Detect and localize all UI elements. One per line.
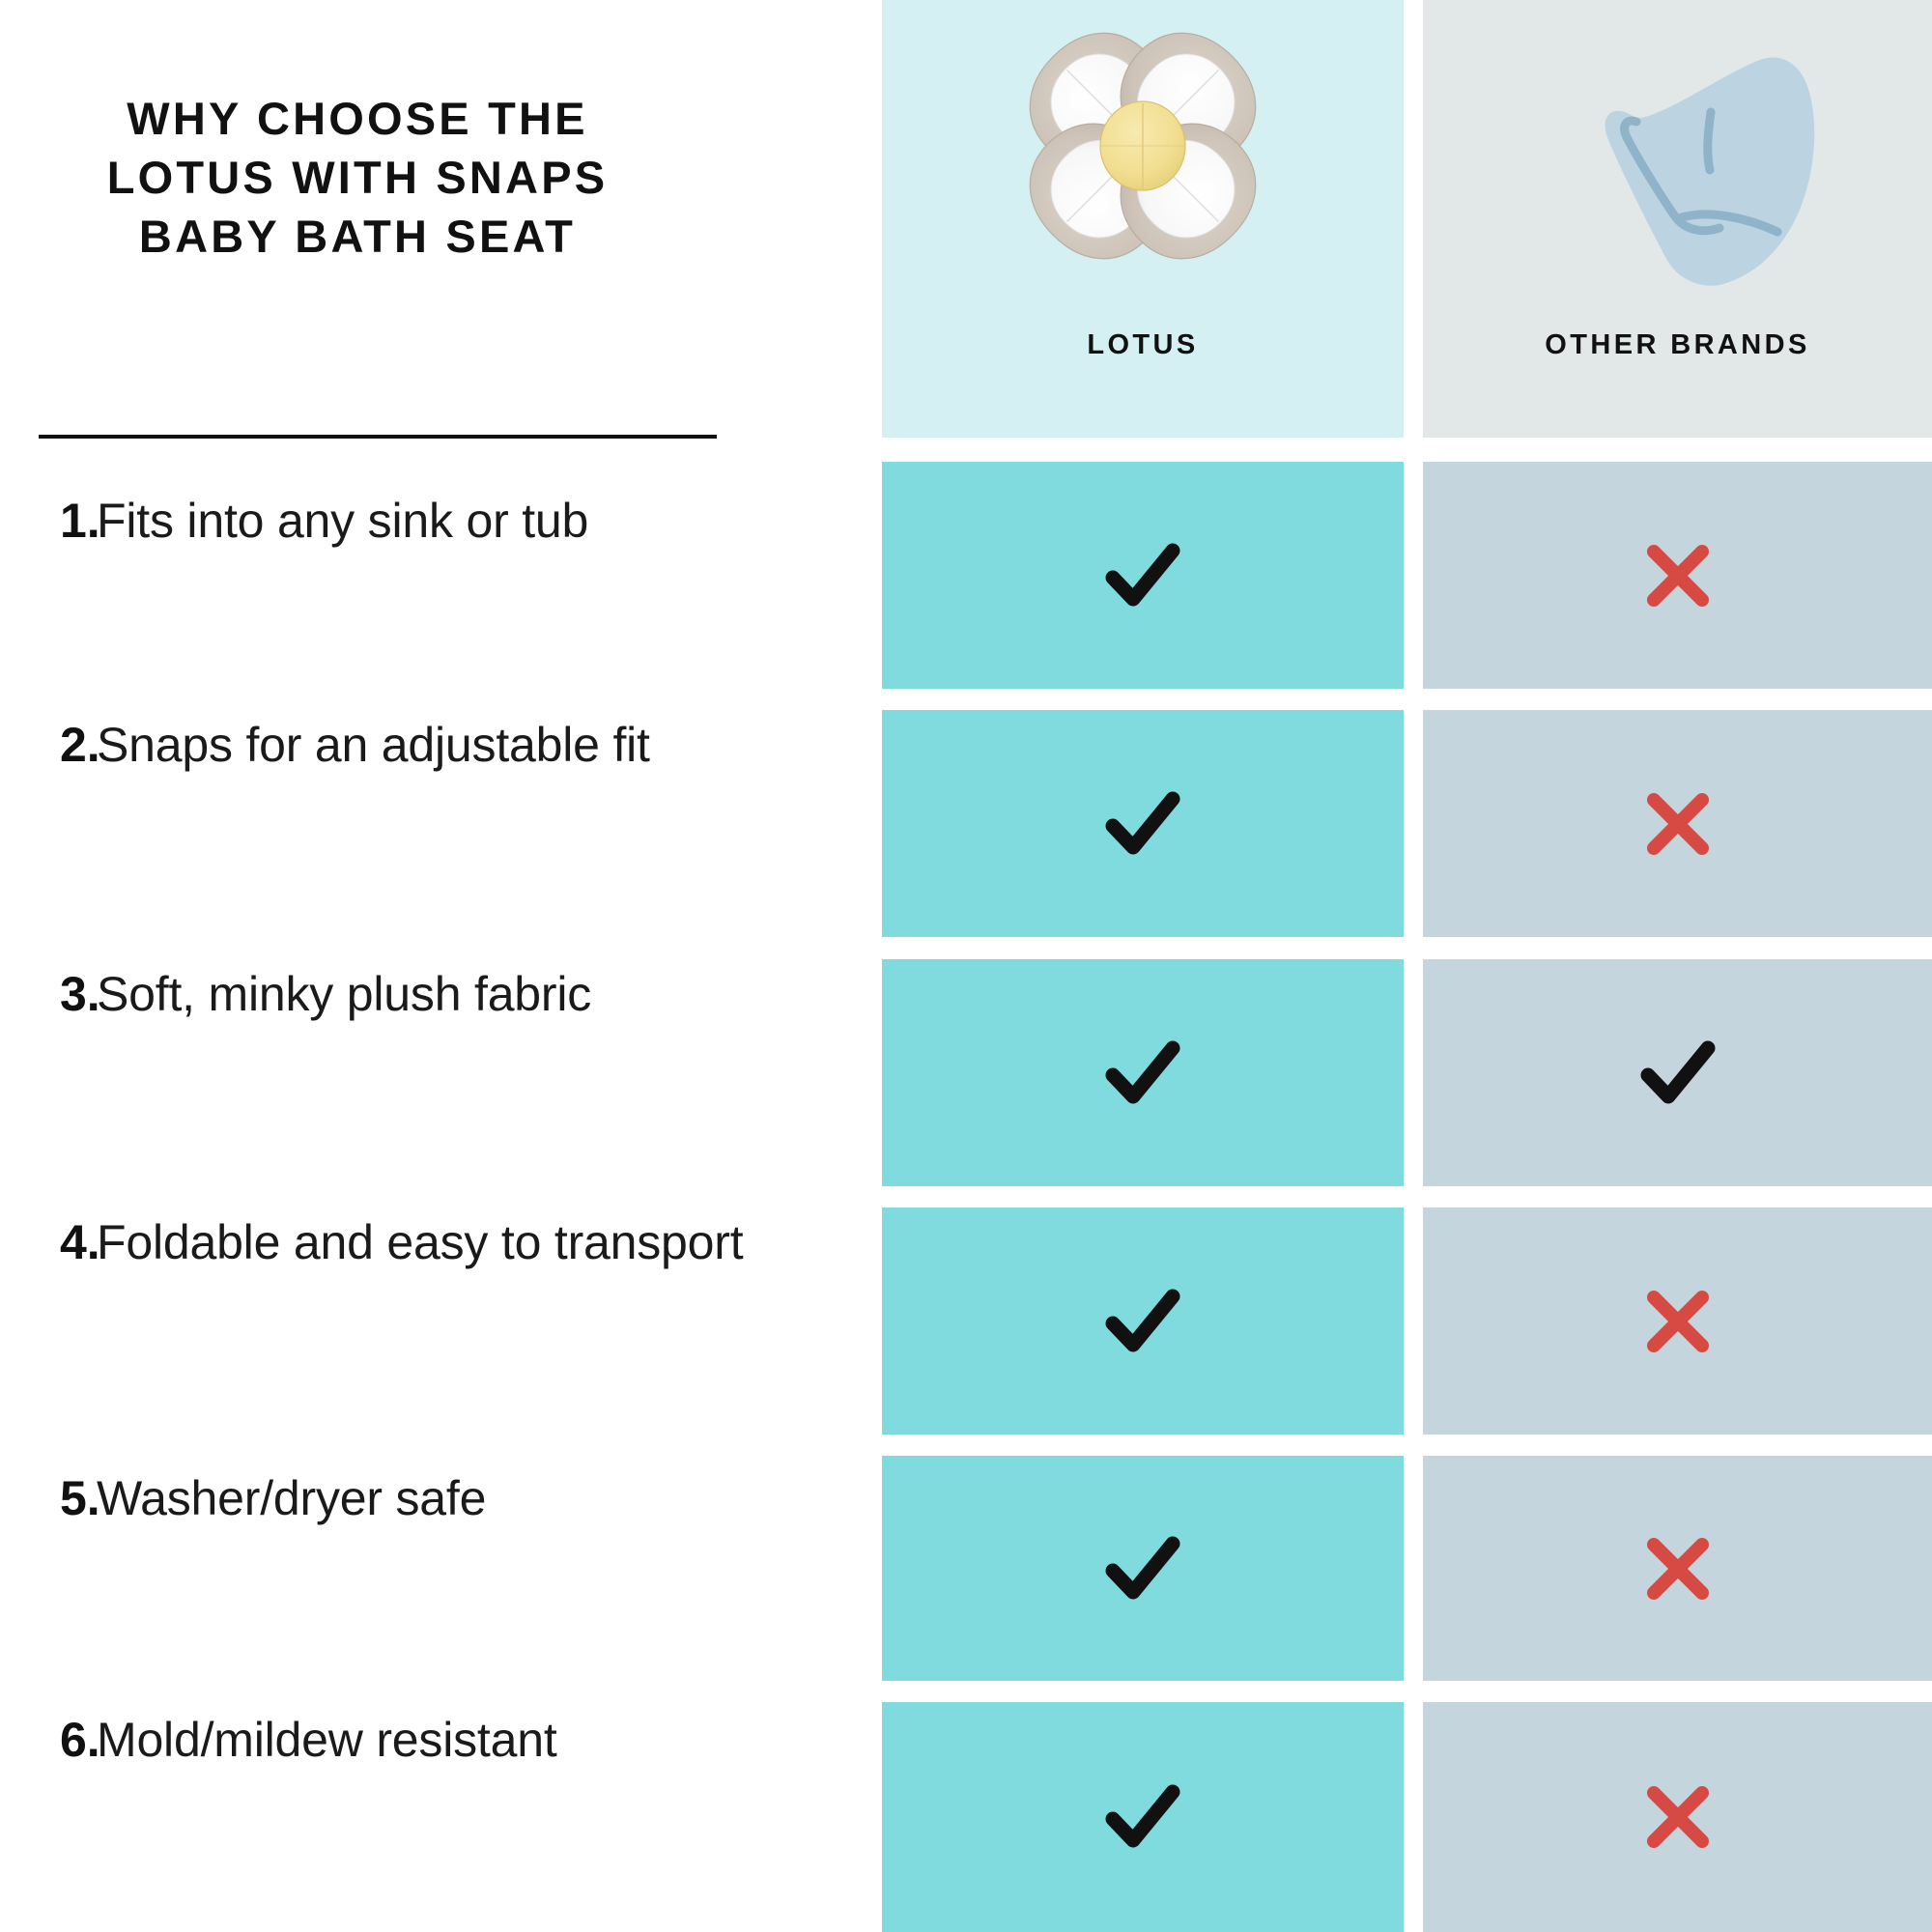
cell-other-feature-6	[1423, 1702, 1932, 1932]
feature-text: Mold/mildew resistant	[97, 1710, 882, 1770]
cell-other-feature-1	[1423, 462, 1932, 689]
feature-item-5: 5.Washer/dryer safe	[0, 1468, 882, 1528]
feature-text: Soft, minky plush fabric	[97, 964, 882, 1024]
column-lotus: LOTUS	[882, 0, 1404, 1932]
feature-item-3: 3.Soft, minky plush fabric	[0, 964, 882, 1024]
cell-lotus-feature-6	[882, 1702, 1404, 1932]
cell-lotus-feature-2	[882, 710, 1404, 937]
title-divider	[39, 435, 717, 439]
cross-icon	[1641, 1285, 1715, 1358]
column-label-other-brands: OTHER BRANDS	[1423, 322, 1932, 438]
feature-item-1: 1.Fits into any sink or tub	[0, 491, 882, 551]
feature-text: Snaps for an adjustable fit	[97, 715, 882, 775]
feature-list: 1.Fits into any sink or tub2.Snaps for a…	[0, 462, 882, 1932]
feature-number: 2.	[0, 715, 97, 775]
check-icon	[1101, 1528, 1184, 1609]
column-label-lotus: LOTUS	[882, 322, 1404, 438]
feature-item-2: 2.Snaps for an adjustable fit	[0, 715, 882, 775]
cell-lotus-feature-4	[882, 1207, 1404, 1435]
check-icon	[1101, 783, 1184, 865]
feature-number: 3.	[0, 964, 97, 1024]
feature-number: 1.	[0, 491, 97, 551]
cross-icon	[1641, 539, 1715, 612]
other-brand-bath-seat-silhouette	[1519, 17, 1837, 298]
cross-icon	[1641, 1532, 1715, 1605]
page-title: WHY CHOOSE THE LOTUS WITH SNAPS BABY BAT…	[39, 89, 676, 266]
cell-lotus-feature-5	[882, 1456, 1404, 1681]
cell-lotus-feature-3	[882, 959, 1404, 1186]
left-content-panel: WHY CHOOSE THE LOTUS WITH SNAPS BABY BAT…	[0, 0, 882, 1932]
cell-other-feature-2	[1423, 710, 1932, 937]
check-icon	[1101, 1033, 1184, 1114]
check-icon	[1101, 1281, 1184, 1362]
lotus-flower-bath-seat-photo	[1009, 14, 1277, 278]
cross-icon	[1641, 1780, 1715, 1854]
feature-number: 4.	[0, 1212, 97, 1272]
cell-lotus-feature-1	[882, 462, 1404, 689]
cell-other-feature-4	[1423, 1207, 1932, 1435]
feature-number: 6.	[0, 1710, 97, 1770]
feature-text: Fits into any sink or tub	[97, 491, 882, 551]
cell-other-feature-3	[1423, 959, 1932, 1186]
cell-other-feature-5	[1423, 1456, 1932, 1681]
check-icon	[1101, 1776, 1184, 1858]
comparison-infographic: WHY CHOOSE THE LOTUS WITH SNAPS BABY BAT…	[0, 0, 1932, 1932]
column-other-brands: OTHER BRANDS	[1423, 0, 1932, 1932]
comparison-table: LOTUS OTHER BRANDS	[882, 0, 1932, 1932]
column-header-lotus: LOTUS	[882, 0, 1404, 438]
feature-text: Foldable and easy to transport	[97, 1212, 882, 1272]
feature-item-4: 4.Foldable and easy to transport	[0, 1212, 882, 1272]
feature-item-6: 6.Mold/mildew resistant	[0, 1710, 882, 1770]
feature-text: Washer/dryer safe	[97, 1468, 882, 1528]
cross-icon	[1641, 787, 1715, 861]
column-header-other-brands: OTHER BRANDS	[1423, 0, 1932, 438]
feature-number: 5.	[0, 1468, 97, 1528]
check-icon	[1101, 535, 1184, 616]
check-icon	[1636, 1033, 1719, 1114]
